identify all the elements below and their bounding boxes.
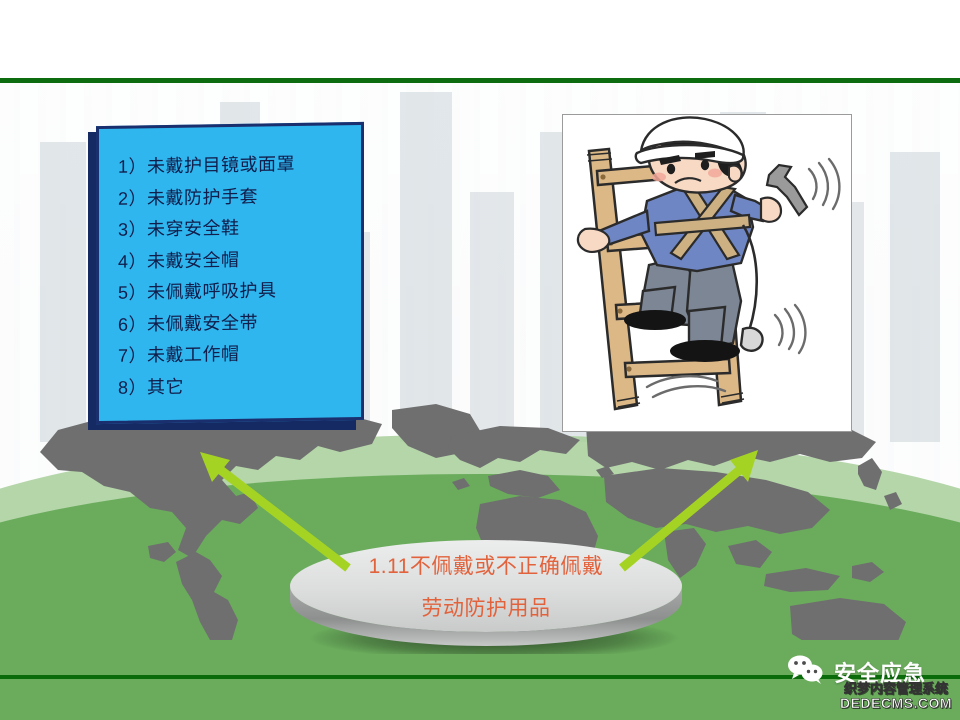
arrow-to-north-america (200, 452, 348, 568)
dedecms-watermark: 织梦内容管理系统 DEDECMS.COM (832, 682, 960, 710)
slide-canvas: 1）未戴护目镜或面罩 2）未戴防护手套 3）未穿安全鞋 4）未戴安全帽 5）未佩… (0, 0, 960, 720)
watermark-english: DEDECMS.COM (832, 696, 960, 711)
arrows-layer (0, 0, 960, 720)
watermark-chinese: 织梦内容管理系统 (832, 682, 960, 696)
wechat-icon (786, 654, 826, 691)
arrow-to-east-asia (622, 450, 758, 568)
